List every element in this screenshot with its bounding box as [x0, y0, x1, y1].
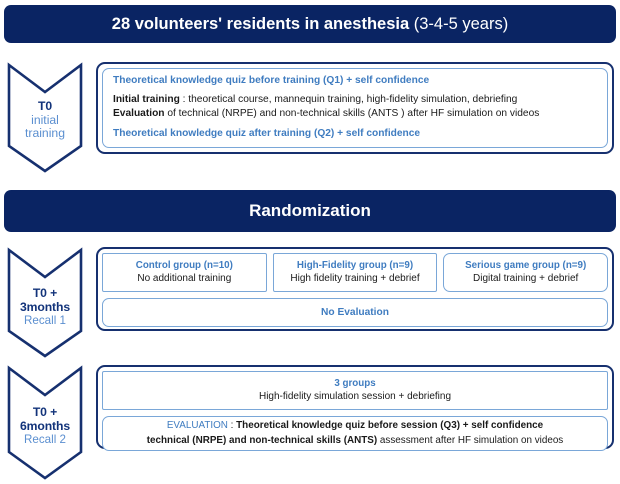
study-population-title: 28 volunteers' residents in anesthesia (… — [112, 15, 508, 34]
t0-initial-training-label: Initial training — [113, 94, 180, 105]
three-groups-subtitle: High-fidelity simulation session + debri… — [259, 390, 451, 403]
timeline-label-t0-6months: T0 + 6months Recall 2 — [6, 406, 84, 446]
timeline-label-t0-3months: T0 + 3months Recall 1 — [6, 287, 84, 327]
t0-initial-training-text: : theoretical course, mannequin training… — [180, 94, 518, 105]
group-box-high-fidelity: High-Fidelity group (n=9) High fidelity … — [273, 253, 438, 292]
randomized-groups-panel: Control group (n=10) No additional train… — [96, 247, 614, 331]
evaluation-bold-line2: technical (NRPE) and non-technical skill… — [147, 435, 377, 446]
group-control-subtitle: No additional training — [137, 272, 231, 285]
group-high-fidelity-title: High-Fidelity group (n=9) — [297, 260, 413, 273]
t0-content-panel: Theoretical knowledge quiz before traini… — [96, 62, 614, 154]
three-groups-title: 3 groups — [334, 378, 375, 391]
group-high-fidelity-subtitle: High fidelity training + debrief — [290, 272, 419, 285]
timeline-label-6months-line1: T0 + — [6, 406, 84, 420]
group-serious-game-subtitle: Digital training + debrief — [473, 272, 578, 285]
timeline-label-t0: T0 initial training — [6, 100, 84, 141]
group-control-title: Control group (n=10) — [136, 260, 233, 273]
no-evaluation-label: No Evaluation — [321, 307, 389, 318]
evaluation-box: EVALUATION : Theoretical knowledge quiz … — [102, 416, 608, 451]
groups-row: Control group (n=10) No additional train… — [102, 253, 608, 292]
evaluation-text-block: EVALUATION : Theoretical knowledge quiz … — [147, 419, 564, 447]
group-box-serious-game: Serious game group (n=9) Digital trainin… — [443, 253, 608, 292]
t0-inner-box: Theoretical knowledge quiz before traini… — [102, 68, 608, 148]
group-serious-game-title: Serious game group (n=9) — [465, 260, 586, 273]
randomization-banner: Randomization — [4, 190, 616, 232]
evaluation-rest-text: assessment after HF simulation on videos — [377, 435, 563, 446]
flowchart-diagram: 28 volunteers' residents in anesthesia (… — [0, 0, 620, 484]
t0-training-details: Initial training : theoretical course, m… — [113, 93, 597, 121]
timeline-chevron-t0: T0 initial training — [6, 62, 84, 174]
study-population-title-bold: 28 volunteers' residents in anesthesia — [112, 15, 409, 33]
timeline-label-6months-line2: 6months — [6, 420, 84, 434]
timeline-chevron-t0-3months: T0 + 3months Recall 1 — [6, 247, 84, 359]
t0-quiz-before-text: Theoretical knowledge quiz before traini… — [113, 75, 597, 86]
timeline-label-3months-recall: Recall 1 — [6, 314, 84, 327]
group-box-control: Control group (n=10) No additional train… — [102, 253, 267, 292]
study-population-title-light: (3-4-5 years) — [409, 15, 508, 33]
evaluation-separator: : — [228, 420, 236, 431]
timeline-chevron-t0-6months: T0 + 6months Recall 2 — [6, 365, 84, 481]
t0-initial-training-line: Initial training : theoretical course, m… — [113, 93, 597, 107]
three-groups-box: 3 groups High-fidelity simulation sessio… — [102, 371, 608, 410]
no-evaluation-box: No Evaluation — [102, 298, 608, 327]
randomization-label: Randomization — [249, 201, 371, 221]
t0-evaluation-label: Evaluation — [113, 108, 165, 119]
timeline-label-3months-line2: 3months — [6, 301, 84, 315]
timeline-label-t0-line3: training — [6, 127, 84, 141]
t0-evaluation-text: of technical (NRPE) and non-technical sk… — [165, 108, 540, 119]
timeline-label-3months-line1: T0 + — [6, 287, 84, 301]
t0-evaluation-line: Evaluation of technical (NRPE) and non-t… — [113, 107, 597, 121]
timeline-label-t0-line2: initial — [6, 114, 84, 128]
t0-quiz-after-text: Theoretical knowledge quiz after trainin… — [113, 128, 597, 139]
evaluation-label: EVALUATION — [167, 420, 228, 431]
evaluation-bold-line1: Theoretical knowledge quiz before sessio… — [236, 420, 543, 431]
study-population-banner: 28 volunteers' residents in anesthesia (… — [4, 5, 616, 43]
timeline-label-6months-recall: Recall 2 — [6, 433, 84, 446]
final-assessment-panel: 3 groups High-fidelity simulation sessio… — [96, 365, 614, 449]
timeline-label-t0-line1: T0 — [6, 100, 84, 114]
